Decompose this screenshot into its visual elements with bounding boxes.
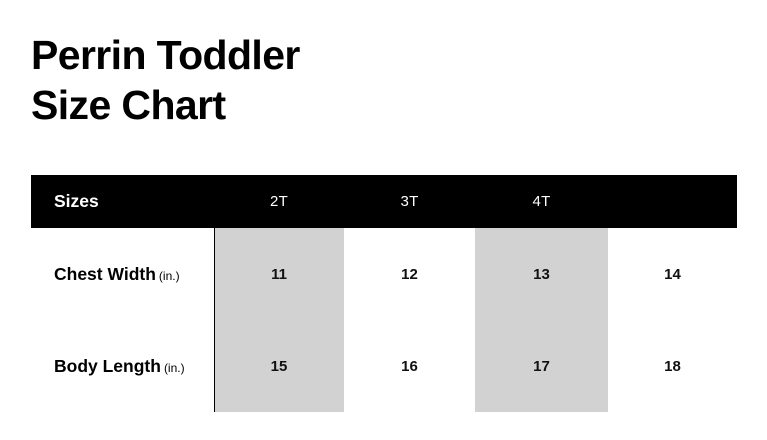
row-label-text: Body Length xyxy=(54,356,161,376)
table-row: Body Length(in.) 15 16 17 18 xyxy=(31,320,737,412)
cell-body-length-4t: 17 xyxy=(475,358,608,375)
row-label-body-length: Body Length(in.) xyxy=(31,356,214,377)
cell-chest-width-3t: 12 xyxy=(344,266,475,283)
cell-chest-width-2t: 11 xyxy=(214,266,344,283)
header-size-2t: 2T xyxy=(214,193,344,210)
size-chart-page: Perrin Toddler Size Chart Sizes 2T 3T 4T… xyxy=(0,0,767,440)
page-title: Perrin Toddler Size Chart xyxy=(31,30,631,130)
row-label-text: Chest Width xyxy=(54,264,156,284)
cell-body-length-2t: 15 xyxy=(214,358,344,375)
cell-body-length-3t: 16 xyxy=(344,358,475,375)
row-label-chest-width: Chest Width(in.) xyxy=(31,264,214,285)
header-size-3t: 3T xyxy=(344,193,475,210)
table-row: Chest Width(in.) 11 12 13 14 xyxy=(31,228,737,320)
cell-chest-width-col4: 14 xyxy=(608,266,737,283)
table-header-row: Sizes 2T 3T 4T xyxy=(31,175,737,228)
cell-body-length-col4: 18 xyxy=(608,358,737,375)
header-sizes-label: Sizes xyxy=(31,191,214,212)
cell-chest-width-4t: 13 xyxy=(475,266,608,283)
header-size-4t: 4T xyxy=(475,193,608,210)
row-label-unit: (in.) xyxy=(164,361,185,375)
size-chart-table: Sizes 2T 3T 4T Chest Width(in.) 11 12 13… xyxy=(31,175,737,412)
row-label-unit: (in.) xyxy=(159,269,180,283)
